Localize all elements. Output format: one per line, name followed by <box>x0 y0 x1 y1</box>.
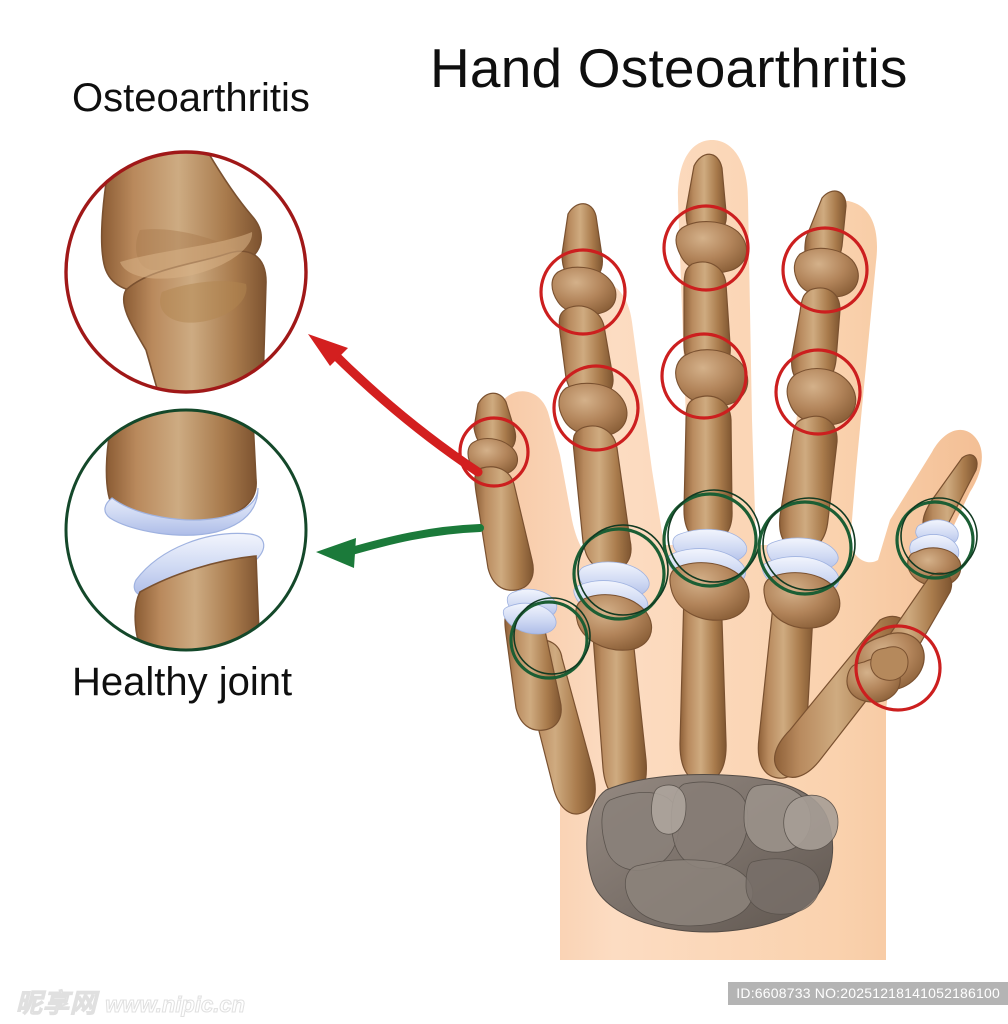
carpal-pisiform <box>652 785 686 834</box>
carpal-trapezium <box>784 795 838 850</box>
carpal-scaphoid <box>625 860 752 926</box>
osteoarthritis-detail-circle <box>60 120 316 420</box>
carpal-lunate <box>746 859 819 914</box>
hand-figure <box>460 140 982 960</box>
healthy-joint-detail-circle <box>60 400 316 660</box>
label-healthy-joint: Healthy joint <box>72 660 292 705</box>
pointer-arrows <box>308 334 480 568</box>
illustration-page: Hand Osteoarthritis Osteoarthritis Healt… <box>0 0 1008 1024</box>
watermark-logo-text: 昵享网 <box>16 988 97 1018</box>
label-osteoarthritis: Osteoarthritis <box>72 76 310 121</box>
green-arrow-head <box>316 538 356 568</box>
site-watermark: 昵享网 www.nipic.cn <box>16 983 245 1020</box>
page-title: Hand Osteoarthritis <box>430 36 908 100</box>
thumb-cmc-osteophyte-3 <box>871 647 908 681</box>
carpal-bones <box>587 775 838 932</box>
hand-osteoarthritis-illustration <box>0 0 1008 1024</box>
green-arrow-shaft <box>348 528 480 552</box>
watermark-url: www.nipic.cn <box>105 992 245 1017</box>
red-arrow-shaft <box>330 350 478 472</box>
image-id-badge: ID:6608733 NO:20251218141052186100 <box>728 982 1008 1005</box>
